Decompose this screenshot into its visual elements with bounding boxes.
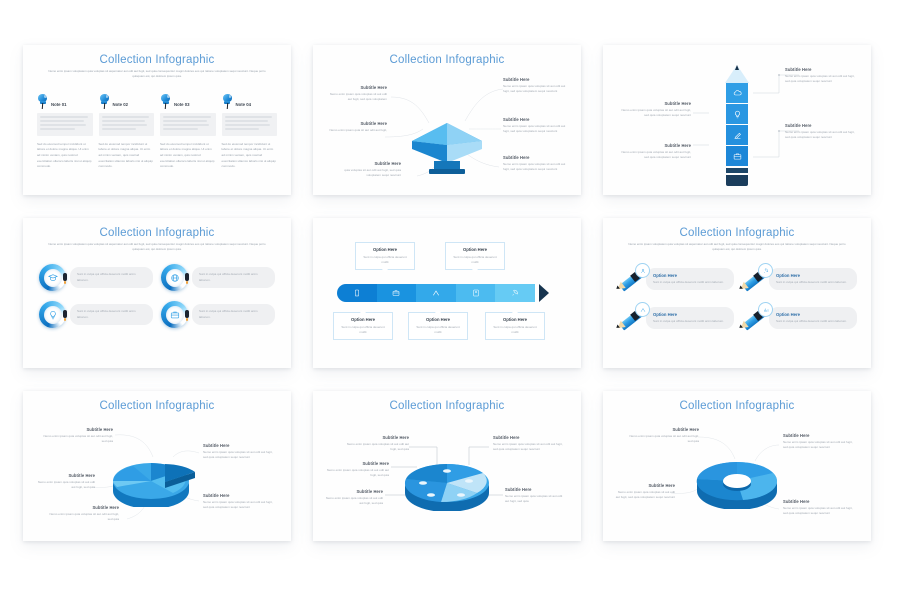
badge-item[interactable]: Sunt in culpa qui officia deserunt molli…	[161, 301, 275, 328]
note-column[interactable]: Note 04 Sed do eiusmod tempor incididunt…	[222, 93, 278, 170]
slide-card-hexagon[interactable]: Collection Infographic Subtitl	[313, 45, 581, 195]
badge-pill: Sunt in culpa qui officia deserunt molli…	[192, 267, 275, 288]
lead-paragraph: Nemo enim ipsam voluptatem quia voluptas…	[625, 242, 849, 253]
arrow-segment[interactable]	[377, 284, 417, 302]
note-body: Sed do eiusmod tempor incididunt ut labo…	[37, 142, 93, 170]
book-icon	[472, 289, 480, 297]
mobile-icon	[353, 289, 361, 297]
callout-label: Subtitle Here	[35, 473, 95, 478]
arrow-segment[interactable]	[495, 284, 535, 302]
note-column[interactable]: Note 03 Sed do eiusmod tempor incididunt…	[160, 93, 216, 170]
callout-body: Nemo enim ipsam quia voluptas sit aut od…	[503, 124, 569, 135]
callout[interactable]: Subtitle Here Nemo enim ipsam quia volup…	[41, 427, 113, 445]
pencil-item[interactable]: Option Here Sunt in culpa qui officia de…	[740, 303, 857, 333]
callout-label: Subtitle Here	[617, 143, 691, 148]
option-body: Sunt in culpa qui officia deserunt molli…	[361, 255, 409, 265]
push-pin-icon	[160, 93, 171, 110]
option-box[interactable]: Option Here Sunt in culpa qui officia de…	[355, 242, 415, 270]
lightbulb-icon	[733, 110, 742, 119]
option-box[interactable]: Option Here Sunt in culpa qui officia de…	[485, 312, 545, 340]
graduation-cap-icon	[48, 273, 58, 283]
option-box[interactable]: Option Here Sunt in culpa qui officia de…	[408, 312, 468, 340]
callout-label: Subtitle Here	[41, 427, 113, 432]
diagonal-pencil-graphic	[740, 264, 772, 294]
option-label: Option Here	[414, 317, 462, 322]
callout-label: Subtitle Here	[783, 499, 855, 504]
hexagon-pyramid-graphic	[404, 115, 490, 179]
chart-icon	[763, 307, 769, 313]
callout-body: Nemo enim ipsam quia voluptas sit aut od…	[503, 162, 569, 173]
option-body: Sunt in culpa qui officia deserunt molli…	[414, 325, 462, 335]
donut-3d-graphic	[693, 453, 781, 509]
briefcase-icon	[170, 310, 180, 320]
callout-label: Subtitle Here	[503, 155, 569, 160]
slide-card-circle-badges[interactable]: Collection Infographic Nemo enim ipsam v…	[23, 218, 291, 368]
callout[interactable]: Subtitle Here Nemo enim ipsam quia volup…	[503, 117, 569, 135]
callout[interactable]: Subtitle Here Nemo enim ipsam quia sit a…	[323, 121, 387, 133]
option-label: Option Here	[451, 247, 499, 252]
note-column[interactable]: Note 01 Sed do eiusmod tempor incididunt…	[37, 93, 93, 170]
callout-label: Subtitle Here	[325, 461, 389, 466]
callout[interactable]: Subtitle Here Nemo enim ipsam quia volup…	[325, 461, 389, 479]
page-title: Collection Infographic	[23, 227, 291, 239]
callout-label: Subtitle Here	[503, 117, 569, 122]
callout[interactable]: Subtitle Here Nemo enim ipsam quia volup…	[505, 487, 567, 505]
lead-paragraph: Nemo enim ipsam voluptatem quia voluptas…	[45, 69, 269, 80]
arrow-bar	[337, 284, 535, 302]
callout-body: Nemo enim ipsam quia voluptas sit aut od…	[785, 130, 857, 141]
pencil-pill: Option Here Sunt in culpa qui officia de…	[646, 307, 734, 330]
slide-card-arrow-bar[interactable]: Option Here Sunt in culpa qui officia de…	[313, 218, 581, 368]
rocket-icon	[763, 268, 769, 274]
briefcase-icon	[733, 152, 742, 161]
push-pin-icon	[37, 93, 48, 110]
pencil-item[interactable]: Option Here Sunt in culpa qui officia de…	[617, 303, 734, 333]
cloud-sync-icon	[733, 89, 742, 98]
pencil-segment[interactable]	[726, 104, 748, 124]
page-title: Collection Infographic	[313, 54, 581, 66]
callout[interactable]: Subtitle Here Nemo enim ipsam quia volup…	[785, 67, 857, 85]
badge-body: Sunt in culpa qui officia deserunt molli…	[199, 272, 268, 283]
note-label: Note 03	[174, 102, 190, 110]
globe-icon	[170, 273, 180, 283]
icon-badge[interactable]	[635, 263, 650, 278]
option-label: Option Here	[339, 317, 387, 322]
badge-pill: Sunt in culpa qui officia deserunt molli…	[70, 267, 153, 288]
option-body: Sunt in culpa qui officia deserunt molli…	[451, 255, 499, 265]
pencil-label: Option Here	[776, 312, 850, 317]
badge-grid: Sunt in culpa qui officia deserunt molli…	[39, 264, 275, 328]
callout-body: Nemo enim ipsam quia voluptas sit aut od…	[617, 108, 691, 119]
callout[interactable]: Subtitle Here Nemo enim ipsam quia volup…	[345, 435, 409, 453]
note-placeholder-lines	[37, 113, 93, 136]
lead-paragraph: Nemo enim ipsam voluptatem quia voluptas…	[45, 242, 269, 253]
callout-label: Subtitle Here	[323, 121, 387, 126]
pie-3d-flat-graphic	[401, 459, 493, 511]
note-body: Sed do eiusmod tempor incididunt ut labo…	[160, 142, 216, 170]
slide-card-notes[interactable]: Collection Infographic Nemo enim ipsam v…	[23, 45, 291, 195]
mountain-icon	[432, 289, 440, 297]
callout[interactable]: Subtitle Here Nemo enim ipsam quia volup…	[785, 123, 857, 141]
callout[interactable]: Subtitle Here Nemo enim ipsam quia volup…	[503, 155, 569, 173]
option-body: Sunt in culpa qui officia deserunt molli…	[491, 325, 539, 335]
infographic-slide-grid: Collection Infographic Nemo enim ipsam v…	[0, 0, 900, 600]
badge-body: Sunt in culpa qui officia deserunt molli…	[77, 272, 146, 283]
slide-card-pencil[interactable]: Subtitle Here Nemo enim ipsam quia volup…	[603, 45, 871, 195]
callout-label: Subtitle Here	[49, 505, 119, 510]
callout-label: Subtitle Here	[785, 67, 857, 72]
callout[interactable]: Subtitle Here Nemo enim ipsam quia volup…	[35, 473, 95, 491]
callout-body: Nemo enim ipsam quia voluptas sit aut od…	[325, 468, 389, 479]
arrow-segment[interactable]	[456, 284, 496, 302]
callout[interactable]: Subtitle Here Nemo enim ipsam quia volup…	[325, 489, 383, 507]
vertical-pencil-graphic	[725, 65, 749, 189]
callout-body: Nemo enim ipsam quia voluptas sit aut od…	[617, 150, 691, 161]
callout-label: Subtitle Here	[203, 443, 275, 448]
callout-label: Subtitle Here	[503, 77, 569, 82]
circle-badge[interactable]	[161, 264, 188, 291]
callout-body: Nemo enim ipsam quia voluptas sit aut od…	[783, 506, 855, 517]
callout[interactable]: Subtitle Here Nemo enim ipsam quia volup…	[783, 499, 855, 517]
callout[interactable]: Subtitle Here Nemo enim ipsam quia volup…	[613, 483, 675, 501]
icon-badge[interactable]	[635, 302, 650, 317]
note-label: Note 02	[113, 102, 129, 110]
note-label: Note 04	[236, 102, 252, 110]
callout-label: Subtitle Here	[345, 435, 409, 440]
pie-3d-exploded-graphic	[109, 449, 201, 507]
callout-body: Nemo enim ipsam quia voluptas sit aut od…	[203, 450, 275, 461]
pencil-body: Sunt in culpa qui officia deserunt molli…	[776, 319, 850, 324]
pencil-segment[interactable]	[726, 125, 748, 145]
diagonal-pencil-graphic	[740, 303, 772, 333]
callout-body: quia voluptas sit aut odit aut fugit, se…	[331, 168, 401, 179]
page-title: Collection Infographic	[23, 400, 291, 412]
pencil-pill: Option Here Sunt in culpa qui officia de…	[769, 268, 857, 291]
pencil-body: Sunt in culpa qui officia deserunt molli…	[776, 280, 850, 285]
callout[interactable]: Subtitle Here Nemo enim ipsam quia volup…	[203, 493, 275, 511]
pencil-grid: Option Here Sunt in culpa qui officia de…	[617, 264, 857, 333]
option-box[interactable]: Option Here Sunt in culpa qui officia de…	[445, 242, 505, 270]
callout-label: Subtitle Here	[325, 489, 383, 494]
callout-body: Nemo enim ipsam quia voluptas sit aut od…	[783, 440, 855, 451]
circle-badge[interactable]	[39, 301, 66, 328]
page-title: Collection Infographic	[603, 400, 871, 412]
callout-body: Nemo enim ipsam quia voluptas sit aut od…	[503, 84, 569, 95]
pencil-pill: Option Here Sunt in culpa qui officia de…	[646, 268, 734, 291]
callout[interactable]: Subtitle Here Nemo enim ipsam quia volup…	[493, 435, 565, 453]
callout-body: Nemo enim ipsam quia voluptas sit aut od…	[41, 434, 113, 445]
note-label: Note 01	[51, 102, 67, 110]
option-body: Sunt in culpa qui officia deserunt molli…	[339, 325, 387, 335]
callout-body: Nemo enim ipsam quia voluptas sit aut od…	[625, 434, 699, 445]
callout-body: Nemo enim ipsam quia voluptas sit aut od…	[785, 74, 857, 85]
callout[interactable]: Subtitle Here Nemo enim ipsam quia volup…	[625, 427, 699, 445]
option-box[interactable]: Option Here Sunt in culpa qui officia de…	[333, 312, 393, 340]
page-title: Collection Infographic	[313, 400, 581, 412]
option-label: Option Here	[491, 317, 539, 322]
arrow-segment[interactable]	[337, 284, 377, 302]
callout-body: Nemo enim ipsam quia voluptas sit aut od…	[35, 480, 95, 491]
slide-card-diagonal-pencils[interactable]: Collection Infographic Nemo enim ipsam v…	[603, 218, 871, 368]
diagonal-pencil-graphic	[617, 264, 649, 294]
callout-body: Nemo enim ipsam quia voluptas sit aut od…	[203, 500, 275, 511]
mountain-icon	[640, 307, 646, 313]
briefcase-icon	[392, 289, 400, 297]
pencil-label: Option Here	[776, 273, 850, 278]
callout-body: Nemo enim ipsam quia voluptas sit aut od…	[49, 512, 119, 523]
pencil-segment[interactable]	[726, 83, 748, 103]
callout-label: Subtitle Here	[783, 433, 855, 438]
callout-label: Subtitle Here	[331, 161, 401, 166]
note-body: Sed do eiusmod tempor incididunt ut labo…	[222, 142, 278, 170]
note-body: Sed do eiusmod tempor incididunt ut labo…	[99, 142, 155, 170]
callout-label: Subtitle Here	[325, 85, 387, 90]
badge-item[interactable]: Sunt in culpa qui officia deserunt molli…	[161, 264, 275, 291]
callout[interactable]: Subtitle Here Nemo enim ipsam quia volup…	[503, 77, 569, 95]
page-title: Collection Infographic	[603, 227, 871, 239]
badge-body: Sunt in culpa qui officia deserunt molli…	[77, 309, 146, 320]
arrow-tip-icon	[539, 284, 549, 302]
callout[interactable]: Subtitle Here Nemo enim ipsam quia volup…	[325, 85, 387, 103]
callout-label: Subtitle Here	[505, 487, 567, 492]
callout-body: Nemo enim ipsam quia voluptas sit aut od…	[345, 442, 409, 453]
pencil-item[interactable]: Option Here Sunt in culpa qui officia de…	[740, 264, 857, 294]
callout-label: Subtitle Here	[493, 435, 565, 440]
pencil-segment[interactable]	[726, 146, 748, 166]
user-icon	[640, 268, 646, 274]
diagonal-pencil-graphic	[617, 303, 649, 333]
icon-badge[interactable]	[758, 302, 773, 317]
lightbulb-icon	[48, 310, 58, 320]
slide-card-pie-flat[interactable]: Collection Infographic	[313, 391, 581, 541]
pencil-body: Sunt in culpa qui officia deserunt molli…	[653, 280, 727, 285]
ruler-pencil-icon	[733, 131, 742, 140]
icon-badge[interactable]	[758, 263, 773, 278]
callout-body: Nemo enim ipsam quia voluptas sit aut od…	[505, 494, 567, 505]
note-placeholder-lines	[222, 113, 278, 136]
note-placeholder-lines	[160, 113, 216, 136]
callout[interactable]: Subtitle Here Nemo enim ipsam quia volup…	[617, 143, 691, 161]
callout-label: Subtitle Here	[617, 101, 691, 106]
circle-badge[interactable]	[161, 301, 188, 328]
callout-body: Nemo enim ipsam quia voluptas sit aut od…	[325, 92, 387, 103]
badge-pill: Sunt in culpa qui officia deserunt molli…	[70, 304, 153, 325]
circle-badge[interactable]	[39, 264, 66, 291]
option-label: Option Here	[361, 247, 409, 252]
rocket-icon	[511, 289, 519, 297]
pencil-item[interactable]: Option Here Sunt in culpa qui officia de…	[617, 264, 734, 294]
pencil-body: Sunt in culpa qui officia deserunt molli…	[653, 319, 727, 324]
notes-columns: Note 01 Sed do eiusmod tempor incididunt…	[37, 93, 277, 170]
slide-card-pie-exploded[interactable]: Collection Infographic	[23, 391, 291, 541]
pencil-label: Option Here	[653, 312, 727, 317]
note-placeholder-lines	[99, 113, 155, 136]
callout[interactable]: Subtitle Here Nemo enim ipsam quia volup…	[617, 101, 691, 119]
callout[interactable]: Subtitle Here quia voluptas sit aut odit…	[331, 161, 401, 179]
callout-body: Nemo enim ipsam quia voluptas sit aut od…	[613, 490, 675, 501]
badge-item[interactable]: Sunt in culpa qui officia deserunt molli…	[39, 264, 153, 291]
pencil-label: Option Here	[653, 273, 727, 278]
badge-body: Sunt in culpa qui officia deserunt molli…	[199, 309, 268, 320]
callout-body: Nemo enim ipsam quia voluptas sit aut od…	[493, 442, 565, 453]
callout[interactable]: Subtitle Here Nemo enim ipsam quia volup…	[49, 505, 119, 523]
callout[interactable]: Subtitle Here Nemo enim ipsam quia volup…	[203, 443, 275, 461]
page-title: Collection Infographic	[23, 54, 291, 66]
push-pin-icon	[99, 93, 110, 110]
badge-item[interactable]: Sunt in culpa qui officia deserunt molli…	[39, 301, 153, 328]
push-pin-icon	[222, 93, 233, 110]
note-column[interactable]: Note 02 Sed do eiusmod tempor incididunt…	[99, 93, 155, 170]
callout-label: Subtitle Here	[203, 493, 275, 498]
callout-body: Nemo enim ipsam quia sit aut odit aut fu…	[323, 128, 387, 133]
pencil-pill: Option Here Sunt in culpa qui officia de…	[769, 307, 857, 330]
callout-label: Subtitle Here	[625, 427, 699, 432]
callout-body: Nemo enim ipsam quia voluptas sit aut od…	[325, 496, 383, 507]
badge-pill: Sunt in culpa qui officia deserunt molli…	[192, 304, 275, 325]
callout[interactable]: Subtitle Here Nemo enim ipsam quia volup…	[783, 433, 855, 451]
callout-label: Subtitle Here	[785, 123, 857, 128]
callout-label: Subtitle Here	[613, 483, 675, 488]
slide-card-donut[interactable]: Collection Infographic Subtitle Here	[603, 391, 871, 541]
arrow-segment[interactable]	[416, 284, 456, 302]
